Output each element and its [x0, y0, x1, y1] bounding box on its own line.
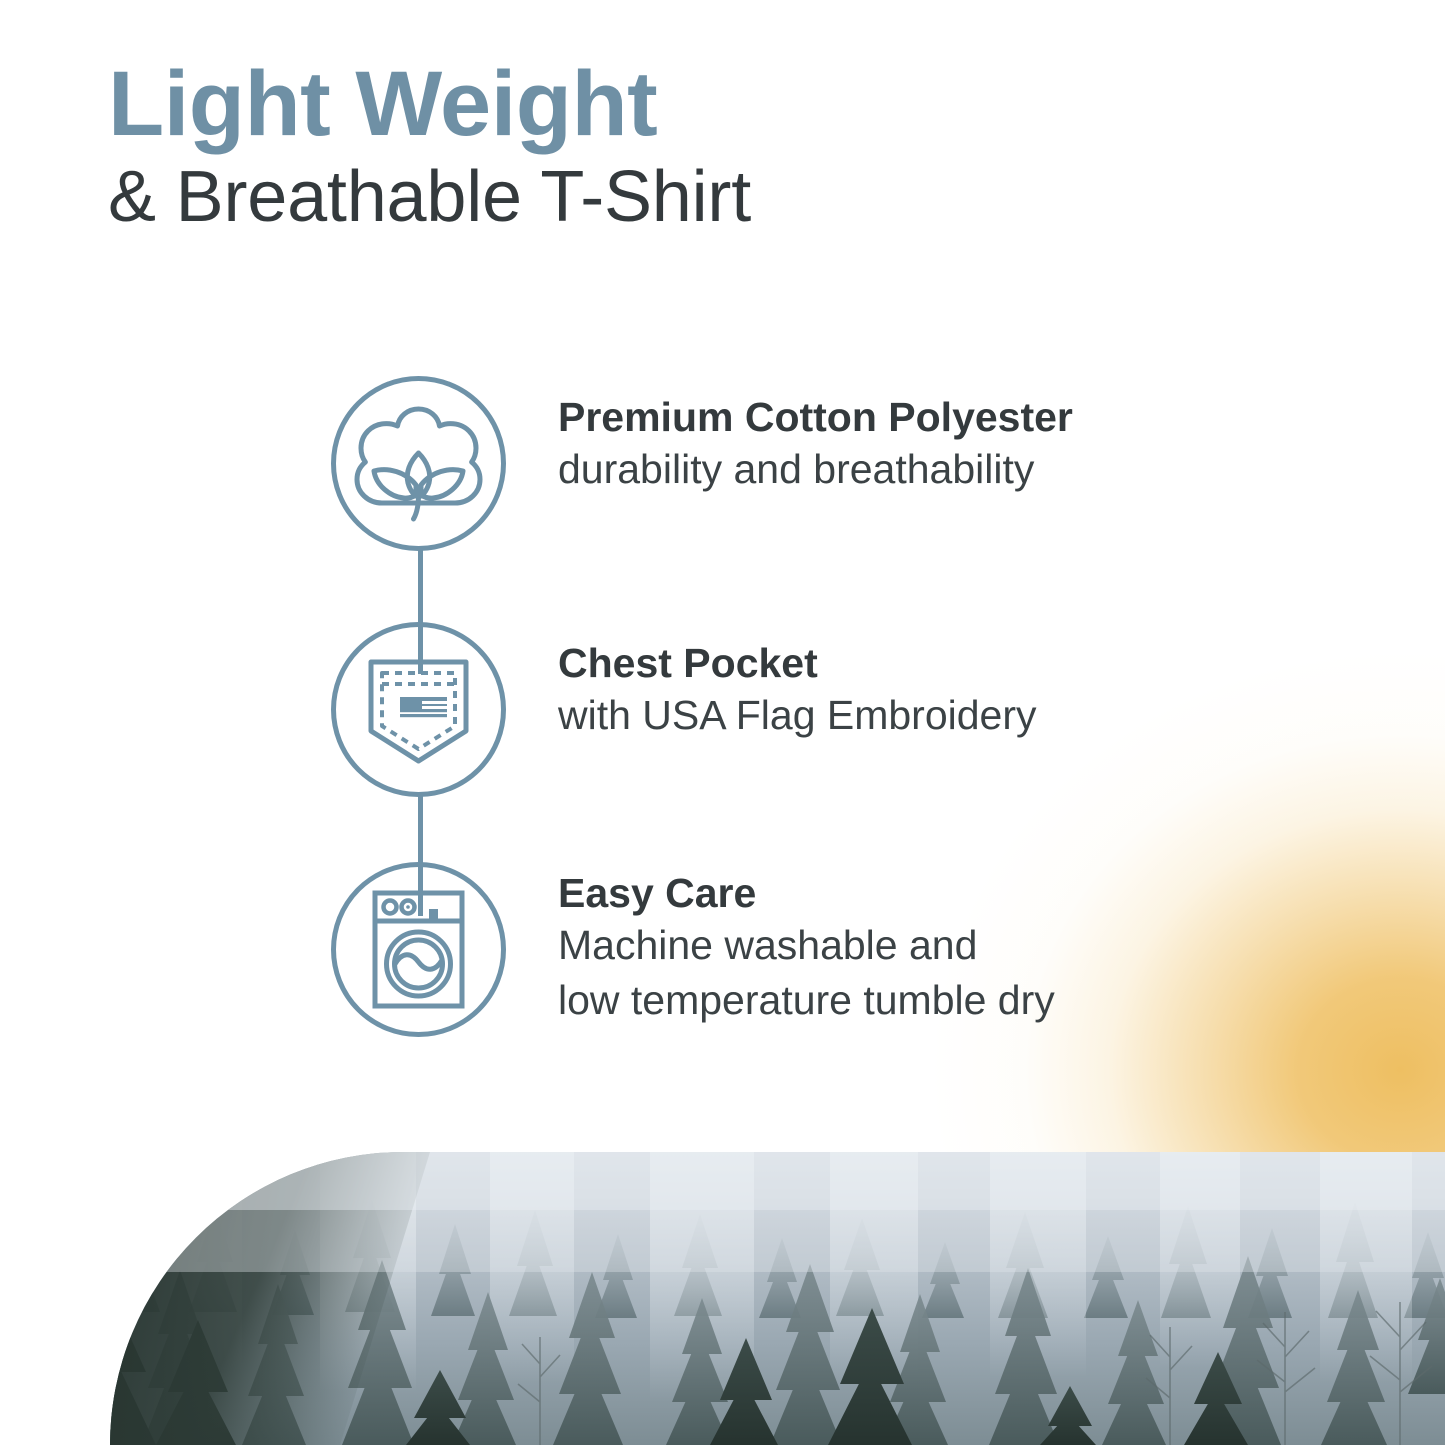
misty-conifer-forest-photo — [110, 1152, 1445, 1445]
feature-title: Premium Cotton Polyester — [558, 393, 1318, 441]
feature-list: Premium Cotton Polyester durability and … — [0, 0, 1445, 1150]
washing-machine-icon — [330, 861, 507, 1038]
feature-description: with USA Flag Embroidery — [558, 689, 1318, 741]
feature-title: Chest Pocket — [558, 639, 1318, 687]
cotton-boll-icon — [330, 375, 507, 552]
feature-description: durability and breathability — [558, 443, 1318, 495]
feature-description-line1: Machine washable and — [558, 919, 1318, 971]
feature-title: Easy Care — [558, 869, 1318, 917]
feature-text-cotton: Premium Cotton Polyester durability and … — [558, 393, 1318, 496]
chest-pocket-flag-icon — [330, 621, 507, 798]
feature-text-easy-care: Easy Care Machine washable and low tempe… — [558, 869, 1318, 1026]
feature-text-pocket: Chest Pocket with USA Flag Embroidery — [558, 639, 1318, 742]
feature-description-line2: low temperature tumble dry — [558, 974, 1318, 1026]
